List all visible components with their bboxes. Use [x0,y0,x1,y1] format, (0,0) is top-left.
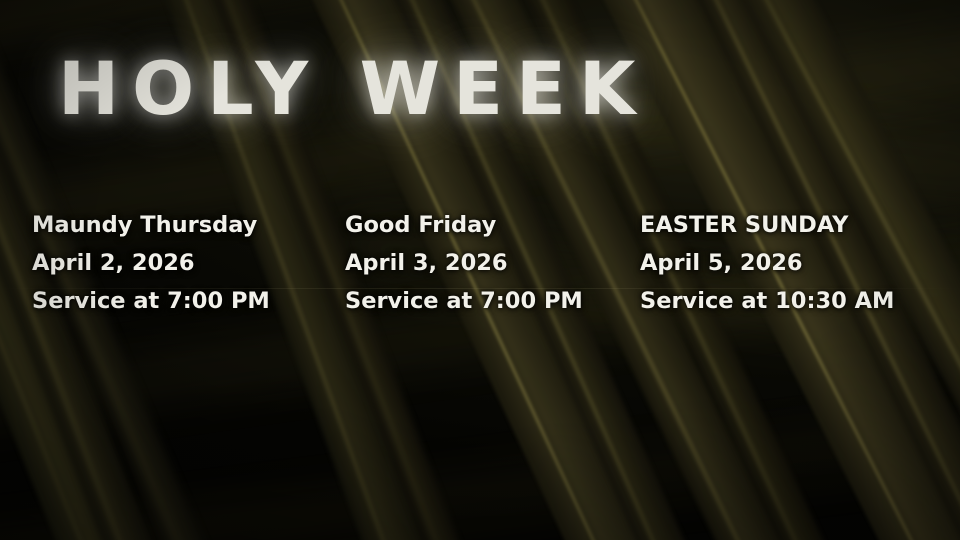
holy-week-slide: HOLY WEEK Maundy Thursday April 2, 2026 … [0,0,960,540]
vignette-overlay [0,0,960,540]
